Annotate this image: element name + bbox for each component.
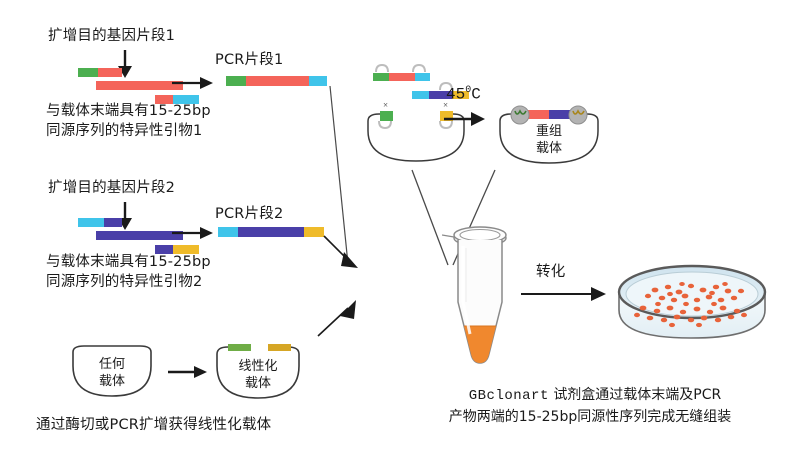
caption-line1: GBclonart 试剂盒通过载体末端及PCR xyxy=(410,384,780,407)
dna-segment-2 xyxy=(98,68,122,77)
assembly-insert1-bar xyxy=(373,73,430,81)
assembly-temperature-label: 450C xyxy=(446,85,481,103)
assembly-arrow-icon xyxy=(444,110,486,128)
dna-segment-2 xyxy=(104,218,122,227)
assembly-crossover-marker-left: × xyxy=(383,100,388,110)
fragment2-template-strand xyxy=(96,231,183,240)
temperature-value: 45 xyxy=(446,85,465,103)
fragment1-primer-note-line1: 与载体末端具有15-25bp xyxy=(46,101,211,121)
assembly-insert1-group xyxy=(371,64,433,82)
dna-segment-2 xyxy=(389,73,415,81)
fragment2-heading: 扩增目的基因片段2 xyxy=(48,178,175,198)
fragment2-pcr-arrow-icon xyxy=(172,224,214,242)
dna-segment-2 xyxy=(246,76,309,86)
fragment1-template-strand xyxy=(96,81,183,90)
recombinant-vector-shape: 重组 载体 xyxy=(495,103,603,167)
linearized-vector-shape: 线性化 载体 xyxy=(213,344,303,402)
caption-product-name: GBclonart xyxy=(469,388,549,404)
figure-canvas: 扩增目的基因片段1 PCR片段1 与载体末端具有15-25bp 同源序列的特异性… xyxy=(0,0,786,471)
source-vector-shape: 任何 载体 xyxy=(70,344,154,400)
dna-segment-1 xyxy=(78,68,98,77)
linearized-vector-label-line2: 载体 xyxy=(213,375,303,392)
source-vector-label-line1: 任何 xyxy=(70,356,154,373)
dna-segment-2 xyxy=(238,227,304,237)
fragment1-primer-note-line2: 同源序列的特异性引物1 xyxy=(46,121,202,141)
fragment2-forward-primer xyxy=(78,218,122,227)
fragment2-down-arrow-icon xyxy=(113,202,137,232)
dna-segment-1 xyxy=(373,73,389,81)
fragment1-pcr-product xyxy=(226,76,327,86)
transformation-arrow-icon xyxy=(521,285,607,303)
fragment1-forward-primer xyxy=(78,68,122,77)
assembly-vector-left-end xyxy=(380,111,393,121)
dna-segment-1 xyxy=(226,76,246,86)
dna-segment-1 xyxy=(412,91,429,99)
recombinant-vector-label-line2: 载体 xyxy=(495,140,603,157)
linearization-arrow-icon xyxy=(168,363,208,381)
source-vector-label-line2: 载体 xyxy=(70,373,154,390)
caption-line1-cn: 试剂盒通过载体末端及PCR xyxy=(553,387,721,403)
dna-segment-3 xyxy=(415,73,430,81)
caption-line2: 产物两端的15-25bp同源性序列完成无缝组装 xyxy=(400,406,780,428)
fragment1-product-label: PCR片段1 xyxy=(215,50,283,70)
vector-to-tube-arrow-icon xyxy=(318,300,374,342)
fragment1-pcr-arrow-icon xyxy=(172,74,214,92)
dna-segment-3 xyxy=(309,76,327,86)
vector-linearization-note: 通过酶切或PCR扩增获得线性化载体 xyxy=(36,415,271,435)
dna-segment-1 xyxy=(218,227,238,237)
fragment2-primer-note-line2: 同源序列的特异性引物2 xyxy=(46,272,202,292)
temperature-unit: C xyxy=(471,85,481,103)
linearized-vector-left-end xyxy=(228,344,251,351)
transformation-arrow-label: 转化 xyxy=(536,262,565,282)
linearized-vector-right-end xyxy=(268,344,291,351)
reaction-tube xyxy=(442,222,518,377)
fragment2-to-tube-arrow-icon xyxy=(324,236,372,276)
fragment2-product-label: PCR片段2 xyxy=(215,204,283,224)
petri-dish xyxy=(613,258,773,350)
fragment1-heading: 扩增目的基因片段1 xyxy=(48,26,175,46)
fragment2-primer-note-line1: 与载体末端具有15-25bp xyxy=(46,252,211,272)
recombinant-vector-label-line1: 重组 xyxy=(495,123,603,140)
linearized-vector-label-line1: 线性化 xyxy=(213,358,303,375)
dna-segment-1 xyxy=(78,218,104,227)
